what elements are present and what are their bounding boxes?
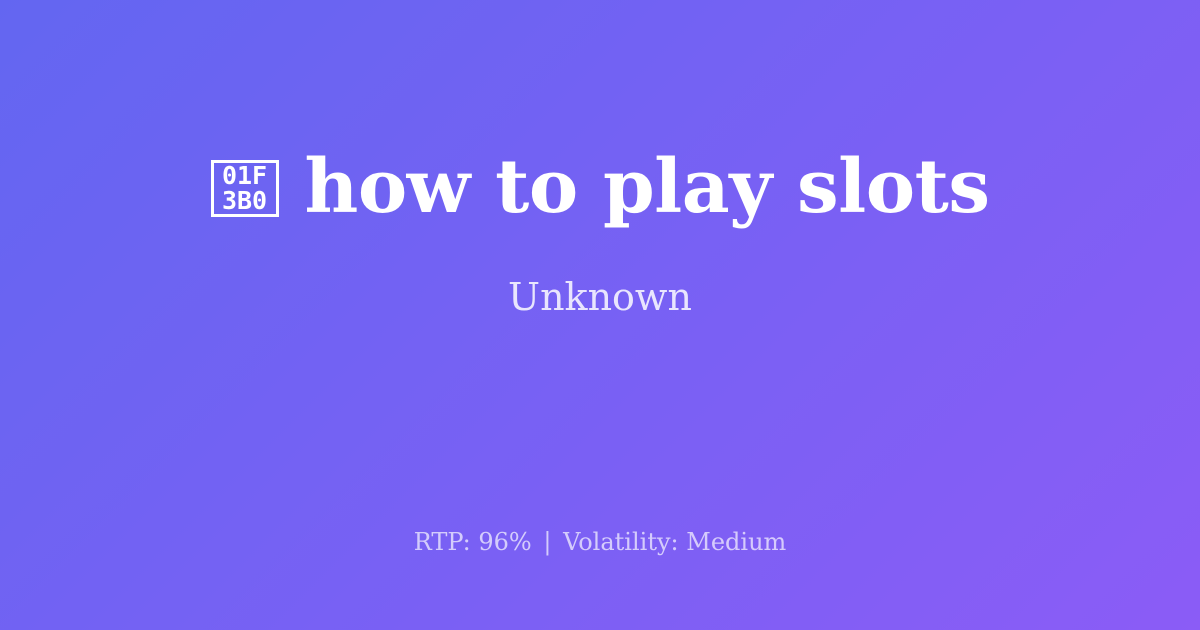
tofu-codepoint-top: 01F xyxy=(222,163,267,188)
page-title: how to play slots xyxy=(305,149,990,227)
slot-machine-emoji-icon: 01F 3B0 xyxy=(211,160,279,217)
card-center-stack: 01F 3B0 how to play slots Unknown xyxy=(0,0,1200,470)
volatility-label: Volatility: xyxy=(563,528,679,556)
game-meta-line: RTP: 96% | Volatility: Medium xyxy=(0,527,1200,557)
tofu-codepoint-bottom: 3B0 xyxy=(222,188,267,213)
og-share-card: 01F 3B0 how to play slots Unknown RTP: 9… xyxy=(0,0,1200,630)
rtp-label: RTP: xyxy=(414,528,471,556)
volatility-value: Medium xyxy=(686,528,786,556)
rtp-value: 96% xyxy=(478,528,531,556)
page-subtitle: Unknown xyxy=(508,275,692,321)
meta-separator: | xyxy=(539,528,555,556)
title-row: 01F 3B0 how to play slots xyxy=(211,149,990,227)
